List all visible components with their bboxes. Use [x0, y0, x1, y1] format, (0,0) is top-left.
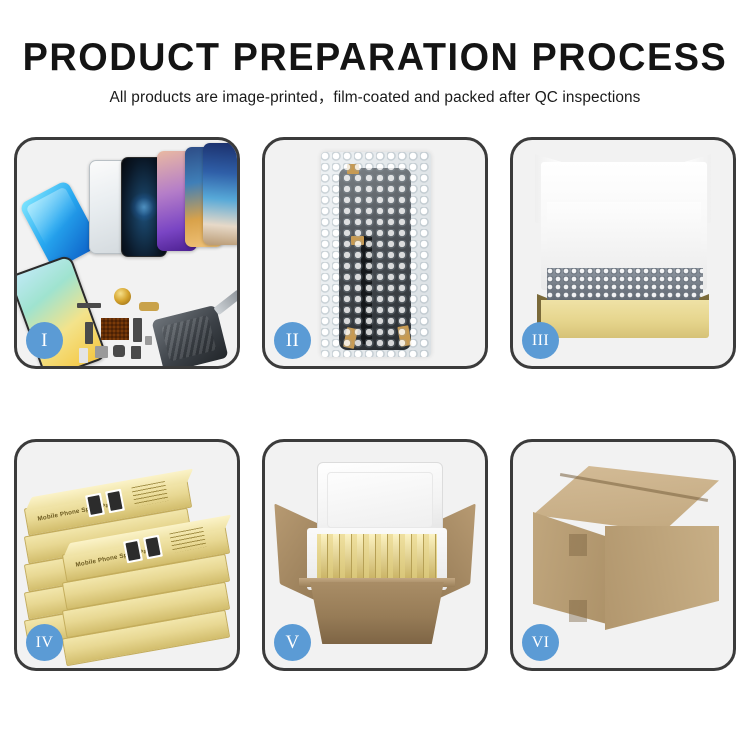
- step-badge-4: IV: [26, 624, 63, 661]
- flex-cable-1: [85, 322, 93, 344]
- page-header: PRODUCT PREPARATION PROCESS All products…: [0, 0, 750, 105]
- step-panel-3[interactable]: III Yellow inner box with white foam lid…: [510, 137, 736, 369]
- yellow-box-front: [541, 300, 709, 338]
- page-title: PRODUCT PREPARATION PROCESS: [11, 38, 739, 77]
- step-panel-1[interactable]: I Mobile phone screens and disassembled …: [14, 137, 240, 369]
- lcd-screen-assembly: [339, 168, 411, 350]
- box-stack: Mobile Phone Spare Parts Mobile Phone Sp…: [23, 456, 235, 656]
- white-foam-sheet: [547, 202, 701, 278]
- screen-flex-cable: [361, 236, 372, 344]
- step-panel-5[interactable]: V Open kraft carton with foam insert hol…: [262, 439, 488, 671]
- foam-lid: [317, 462, 443, 538]
- vibration-motor: [113, 345, 125, 357]
- step-panel-6[interactable]: VI Sealed kraft cardboard shipping carto…: [510, 439, 736, 671]
- carton-front-wall: [301, 582, 453, 644]
- bubble-wrapped-contents: [547, 268, 703, 302]
- flex-cable-2: [133, 318, 142, 342]
- repair-tweezers: [213, 290, 237, 316]
- carton-right-face: [605, 526, 719, 630]
- antenna-strip: [77, 303, 101, 308]
- sim-tray: [79, 348, 88, 363]
- button-flex: [131, 346, 141, 359]
- tape-piece-top: [347, 164, 359, 174]
- step-badge-2: II: [274, 322, 311, 359]
- step-panel-4[interactable]: Mobile Phone Spare Parts Mobile Phone Sp…: [14, 439, 240, 671]
- camera-module: [95, 346, 108, 358]
- step-panel-2[interactable]: II Single LCD screen assembly sealed in …: [262, 137, 488, 369]
- process-step-grid: I Mobile phone screens and disassembled …: [14, 137, 736, 671]
- speaker-module: [114, 288, 131, 305]
- small-screw-set: [145, 336, 152, 345]
- logic-board-chip: [101, 318, 129, 340]
- step-badge-3: III: [522, 322, 559, 359]
- phone-screen-wave: [203, 143, 237, 245]
- step-badge-1: I: [26, 322, 63, 359]
- step-badge-6: VI: [522, 624, 559, 661]
- tape-piece-middle: [351, 236, 364, 245]
- gold-connector: [139, 302, 159, 311]
- carton-flap-tab-top: [569, 534, 587, 556]
- page-subtitle: All products are image-printed，film-coat…: [0, 90, 750, 105]
- step-badge-5: V: [274, 624, 311, 661]
- carton-flap-tab-bottom: [569, 600, 587, 622]
- packed-yellow-boxes: [317, 534, 437, 580]
